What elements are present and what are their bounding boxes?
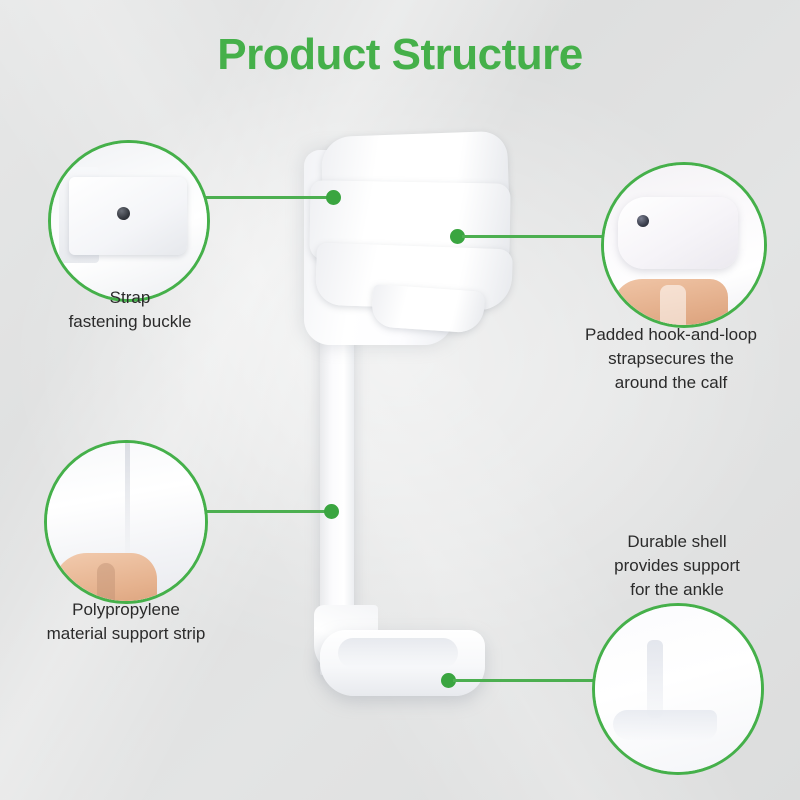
connector-dot-polypropylene-support-strip	[324, 504, 339, 519]
product-structure-infographic: Product Structure Strap fastening buckle	[0, 0, 800, 800]
padded-strap-body	[618, 197, 738, 269]
caption-padded-hook-and-loop-strap: Padded hook-and-loop strapsecures the ar…	[551, 323, 791, 395]
caption-line: around the calf	[551, 371, 791, 395]
product-strap-tail	[371, 284, 486, 334]
caption-line: Padded hook-and-loop	[551, 323, 791, 347]
connector-dot-strap-fastening-buckle	[326, 190, 341, 205]
buckle-rivet-icon	[117, 207, 130, 220]
caption-line: Polypropylene	[6, 598, 246, 622]
connector-line-polypropylene-support-strip	[200, 510, 330, 513]
hand-holding-support-strip	[53, 553, 157, 604]
callout-circle-padded-hook-and-loop-strap[interactable]	[601, 162, 767, 328]
caption-line: material support strip	[6, 622, 246, 646]
support-strip-closeup-photo	[47, 443, 205, 601]
callout-circle-polypropylene-support-strip[interactable]	[44, 440, 208, 604]
shell-closeup-photo	[595, 606, 761, 772]
caption-strap-fastening-buckle: Strap fastening buckle	[16, 286, 244, 334]
product-image-ankle-foot-orthosis	[280, 110, 540, 720]
buckle-closeup-photo	[51, 143, 207, 299]
caption-line: strapsecures the	[551, 347, 791, 371]
connector-line-durable-shell	[453, 679, 601, 682]
page-title: Product Structure	[0, 30, 800, 80]
caption-polypropylene-support-strip: Polypropylene material support strip	[6, 598, 246, 646]
callout-circle-strap-fastening-buckle[interactable]	[48, 140, 210, 302]
product-footplate	[320, 630, 485, 696]
callout-circle-durable-shell[interactable]	[592, 603, 764, 775]
caption-line: fastening buckle	[16, 310, 244, 334]
hand-holding-strap	[612, 279, 728, 328]
caption-line: Durable shell	[592, 530, 762, 554]
shell-vertical-edge	[647, 640, 663, 718]
caption-line: Strap	[16, 286, 244, 310]
support-strip-seam	[125, 443, 130, 563]
caption-line: provides support	[592, 554, 762, 578]
shell-foot-curve	[613, 710, 717, 740]
caption-line: for the ankle	[592, 578, 762, 602]
connector-line-padded-hook-and-loop-strap	[462, 235, 604, 238]
padded-strap-rivet-icon	[637, 215, 649, 227]
padded-strap-closeup-photo	[604, 165, 764, 325]
caption-durable-shell: Durable shell provides support for the a…	[592, 530, 762, 602]
connector-line-strap-fastening-buckle	[204, 196, 332, 199]
